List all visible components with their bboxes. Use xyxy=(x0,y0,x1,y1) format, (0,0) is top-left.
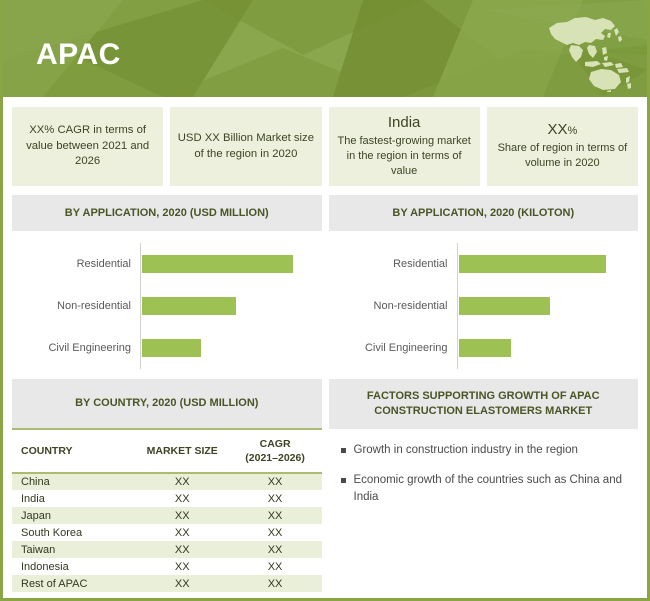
factors-panel: FACTORS SUPPORTING GROWTH OF APAC CONSTR… xyxy=(329,379,639,592)
bullet-square-icon xyxy=(341,448,346,453)
bar-row: Non-residential xyxy=(12,285,316,327)
bar-track xyxy=(140,243,316,285)
stat-card-fastest-growing: India The fastest-growing market in the … xyxy=(329,107,480,186)
bar-track xyxy=(140,327,316,369)
country-table: COUNTRY MARKET SIZE CAGR (2021–2026) Chi… xyxy=(12,430,322,592)
stat-card-cagr-text: XX% CAGR in terms of value between 2021 … xyxy=(19,123,156,170)
chart-panel-volume: BY APPLICATION, 2020 (KILOTON) Residenti… xyxy=(329,195,639,379)
table-row: ChinaXXXX xyxy=(12,473,322,490)
list-item: Economic growth of the countries such as… xyxy=(341,472,629,505)
cell-country: Rest of APAC xyxy=(12,575,136,592)
table-row: South KoreaXXXX xyxy=(12,524,322,541)
bar-label: Residential xyxy=(12,258,140,270)
cell-cagr: XX xyxy=(229,507,322,524)
bar-label: Civil Engineering xyxy=(12,342,140,354)
table-row: TaiwanXXXX xyxy=(12,541,322,558)
country-panel: BY COUNTRY, 2020 (USD MILLION) COUNTRY M… xyxy=(12,379,322,592)
list-item-label: Economic growth of the countries such as… xyxy=(354,472,629,505)
table-row: JapanXXXX xyxy=(12,507,322,524)
country-table-wrap: COUNTRY MARKET SIZE CAGR (2021–2026) Chi… xyxy=(12,428,322,592)
bar-track xyxy=(457,285,633,327)
bar-label: Non-residential xyxy=(329,300,457,312)
table-row: IndonesiaXXXX xyxy=(12,558,322,575)
cell-country: India xyxy=(12,490,136,507)
bar xyxy=(142,297,236,315)
column-header-cagr-line1: CAGR xyxy=(233,438,318,452)
cell-market-size: XX xyxy=(136,507,229,524)
cell-market-size: XX xyxy=(136,541,229,558)
cell-country: Taiwan xyxy=(12,541,136,558)
cell-market-size: XX xyxy=(136,558,229,575)
chart-panel-value-title: BY APPLICATION, 2020 (USD MILLION) xyxy=(12,195,322,231)
bar-label: Residential xyxy=(329,258,457,270)
cell-cagr: XX xyxy=(229,541,322,558)
column-header-country: COUNTRY xyxy=(12,430,136,473)
stat-card-fastest-growing-text: The fastest-growing market in the region… xyxy=(336,134,473,180)
bar-row: Residential xyxy=(329,243,633,285)
column-header-cagr: CAGR (2021–2026) xyxy=(229,430,322,473)
bar-row: Civil Engineering xyxy=(12,327,316,369)
country-panel-title: BY COUNTRY, 2020 (USD MILLION) xyxy=(12,379,322,428)
bar-row: Non-residential xyxy=(329,285,633,327)
stat-card-cagr: XX% CAGR in terms of value between 2021 … xyxy=(12,107,163,186)
bar-track xyxy=(140,285,316,327)
bar-label: Civil Engineering xyxy=(329,342,457,354)
bar-chart-value-rows: Residential Non-residential Civil Engine… xyxy=(12,243,316,369)
cell-country: Indonesia xyxy=(12,558,136,575)
bar-track xyxy=(457,243,633,285)
stat-card-market-size: USD XX Billion Market size of the region… xyxy=(170,107,321,186)
bar xyxy=(459,297,550,315)
cell-country: China xyxy=(12,473,136,490)
table-row: IndiaXXXX xyxy=(12,490,322,507)
bar xyxy=(142,255,293,273)
charts-row: BY APPLICATION, 2020 (USD MILLION) Resid… xyxy=(3,195,647,379)
cell-market-size: XX xyxy=(136,524,229,541)
table-row: Rest of APACXXXX xyxy=(12,575,322,592)
list-item: Growth in construction industry in the r… xyxy=(341,442,629,459)
cell-cagr: XX xyxy=(229,575,322,592)
stat-card-volume-share-percent: % xyxy=(567,125,577,137)
cell-country: South Korea xyxy=(12,524,136,541)
stat-card-fastest-growing-value: India xyxy=(388,114,421,133)
cell-cagr: XX xyxy=(229,524,322,541)
list-item-label: Growth in construction industry in the r… xyxy=(354,442,578,459)
cell-market-size: XX xyxy=(136,575,229,592)
bar-chart-volume: Residential Non-residential Civil Engine… xyxy=(329,231,639,379)
bar-row: Residential xyxy=(12,243,316,285)
bar xyxy=(142,339,201,357)
bullet-square-icon xyxy=(341,478,346,483)
cell-cagr: XX xyxy=(229,558,322,575)
cell-market-size: XX xyxy=(136,473,229,490)
bar xyxy=(459,339,512,357)
chart-panel-volume-title: BY APPLICATION, 2020 (KILOTON) xyxy=(329,195,639,231)
stat-card-market-size-text: USD XX Billion Market size of the region… xyxy=(177,131,314,162)
chart-panel-value: BY APPLICATION, 2020 (USD MILLION) Resid… xyxy=(12,195,322,379)
table-header-row: COUNTRY MARKET SIZE CAGR (2021–2026) xyxy=(12,430,322,473)
bar-chart-value: Residential Non-residential Civil Engine… xyxy=(12,231,322,379)
stat-card-volume-share-number: XX xyxy=(547,121,567,138)
cell-cagr: XX xyxy=(229,473,322,490)
cell-cagr: XX xyxy=(229,490,322,507)
cell-country: Japan xyxy=(12,507,136,524)
stat-card-volume-share-value: XX% xyxy=(547,121,577,140)
factors-list: Growth in construction industry in the r… xyxy=(329,429,639,593)
lower-row: BY COUNTRY, 2020 (USD MILLION) COUNTRY M… xyxy=(3,379,647,592)
apac-map-icon xyxy=(541,12,633,92)
stat-cards-row: XX% CAGR in terms of value between 2021 … xyxy=(3,97,647,195)
country-table-head: COUNTRY MARKET SIZE CAGR (2021–2026) xyxy=(12,430,322,473)
factors-panel-title: FACTORS SUPPORTING GROWTH OF APAC CONSTR… xyxy=(329,379,639,429)
bar-track xyxy=(457,327,633,369)
stat-card-volume-share: XX% Share of region in terms of volume i… xyxy=(487,107,638,186)
bar-label: Non-residential xyxy=(12,300,140,312)
column-header-market-size: MARKET SIZE xyxy=(136,430,229,473)
bar xyxy=(459,255,606,273)
cell-market-size: XX xyxy=(136,490,229,507)
infographic-root: APAC XX% CAGR in terms of value between … xyxy=(0,0,650,601)
country-table-body: ChinaXXXXIndiaXXXXJapanXXXXSouth KoreaXX… xyxy=(12,473,322,592)
stat-card-volume-share-text: Share of region in terms of volume in 20… xyxy=(494,141,631,171)
bar-row: Civil Engineering xyxy=(329,327,633,369)
page-header: APAC xyxy=(3,0,647,97)
page-title: APAC xyxy=(36,38,121,72)
column-header-cagr-line2: (2021–2026) xyxy=(233,452,318,466)
bar-chart-volume-rows: Residential Non-residential Civil Engine… xyxy=(329,243,633,369)
